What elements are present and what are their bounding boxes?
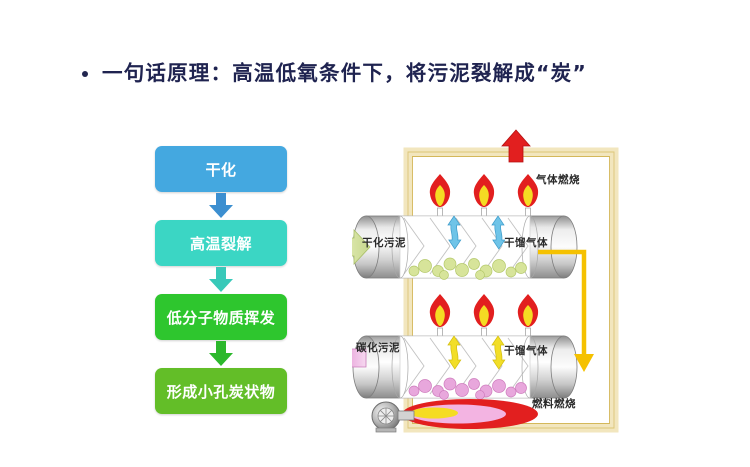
lower-kiln-flames (430, 294, 538, 337)
label-distillation-gas-upper: 干馏气体 (504, 235, 548, 250)
flow-step-4[interactable]: 形成小孔炭状物 (155, 368, 287, 414)
exhaust-arrow-icon (502, 130, 530, 162)
furnace-svg (352, 128, 652, 448)
label-dried-sludge-inlet: 干化污泥 (362, 235, 406, 250)
flow-step-4-label: 形成小孔炭状物 (167, 381, 276, 402)
carbonization-furnace-diagram: 气体燃烧 干化污泥 干馏气体 碳化污泥 干馏气体 燃料燃烧 (352, 128, 652, 448)
flow-step-2[interactable]: 高温裂解 (155, 220, 287, 266)
flow-arrow-2 (155, 266, 287, 294)
slide-title-row: 一句话原理：高温低氧条件下，将污泥裂解成“炭” (82, 63, 587, 84)
upper-kiln (353, 174, 577, 280)
label-gas-combustion: 气体燃烧 (536, 172, 580, 187)
bullet-icon (82, 71, 88, 77)
label-carbonized-sludge-outlet: 碳化污泥 (356, 340, 400, 355)
flow-arrow-3 (155, 340, 287, 368)
label-fuel-combustion: 燃料燃烧 (532, 396, 576, 411)
flow-step-2-label: 高温裂解 (190, 233, 252, 254)
upper-kiln-flames (430, 174, 538, 217)
flow-step-1-label: 干化 (205, 159, 236, 180)
flow-step-3-label: 低分子物质挥发 (167, 307, 276, 328)
flow-step-3[interactable]: 低分子物质挥发 (155, 294, 287, 340)
process-flowchart: 干化 高温裂解 低分子物质挥发 形成小孔炭状物 (155, 146, 287, 414)
page-title: 一句话原理：高温低氧条件下，将污泥裂解成“炭” (102, 63, 587, 84)
flow-arrow-1 (155, 192, 287, 220)
slide-canvas: 一句话原理：高温低氧条件下，将污泥裂解成“炭” 干化 高温裂解 低分子物质挥发 (0, 0, 750, 467)
flow-step-1[interactable]: 干化 (155, 146, 287, 192)
label-distillation-gas-lower: 干馏气体 (504, 343, 548, 358)
